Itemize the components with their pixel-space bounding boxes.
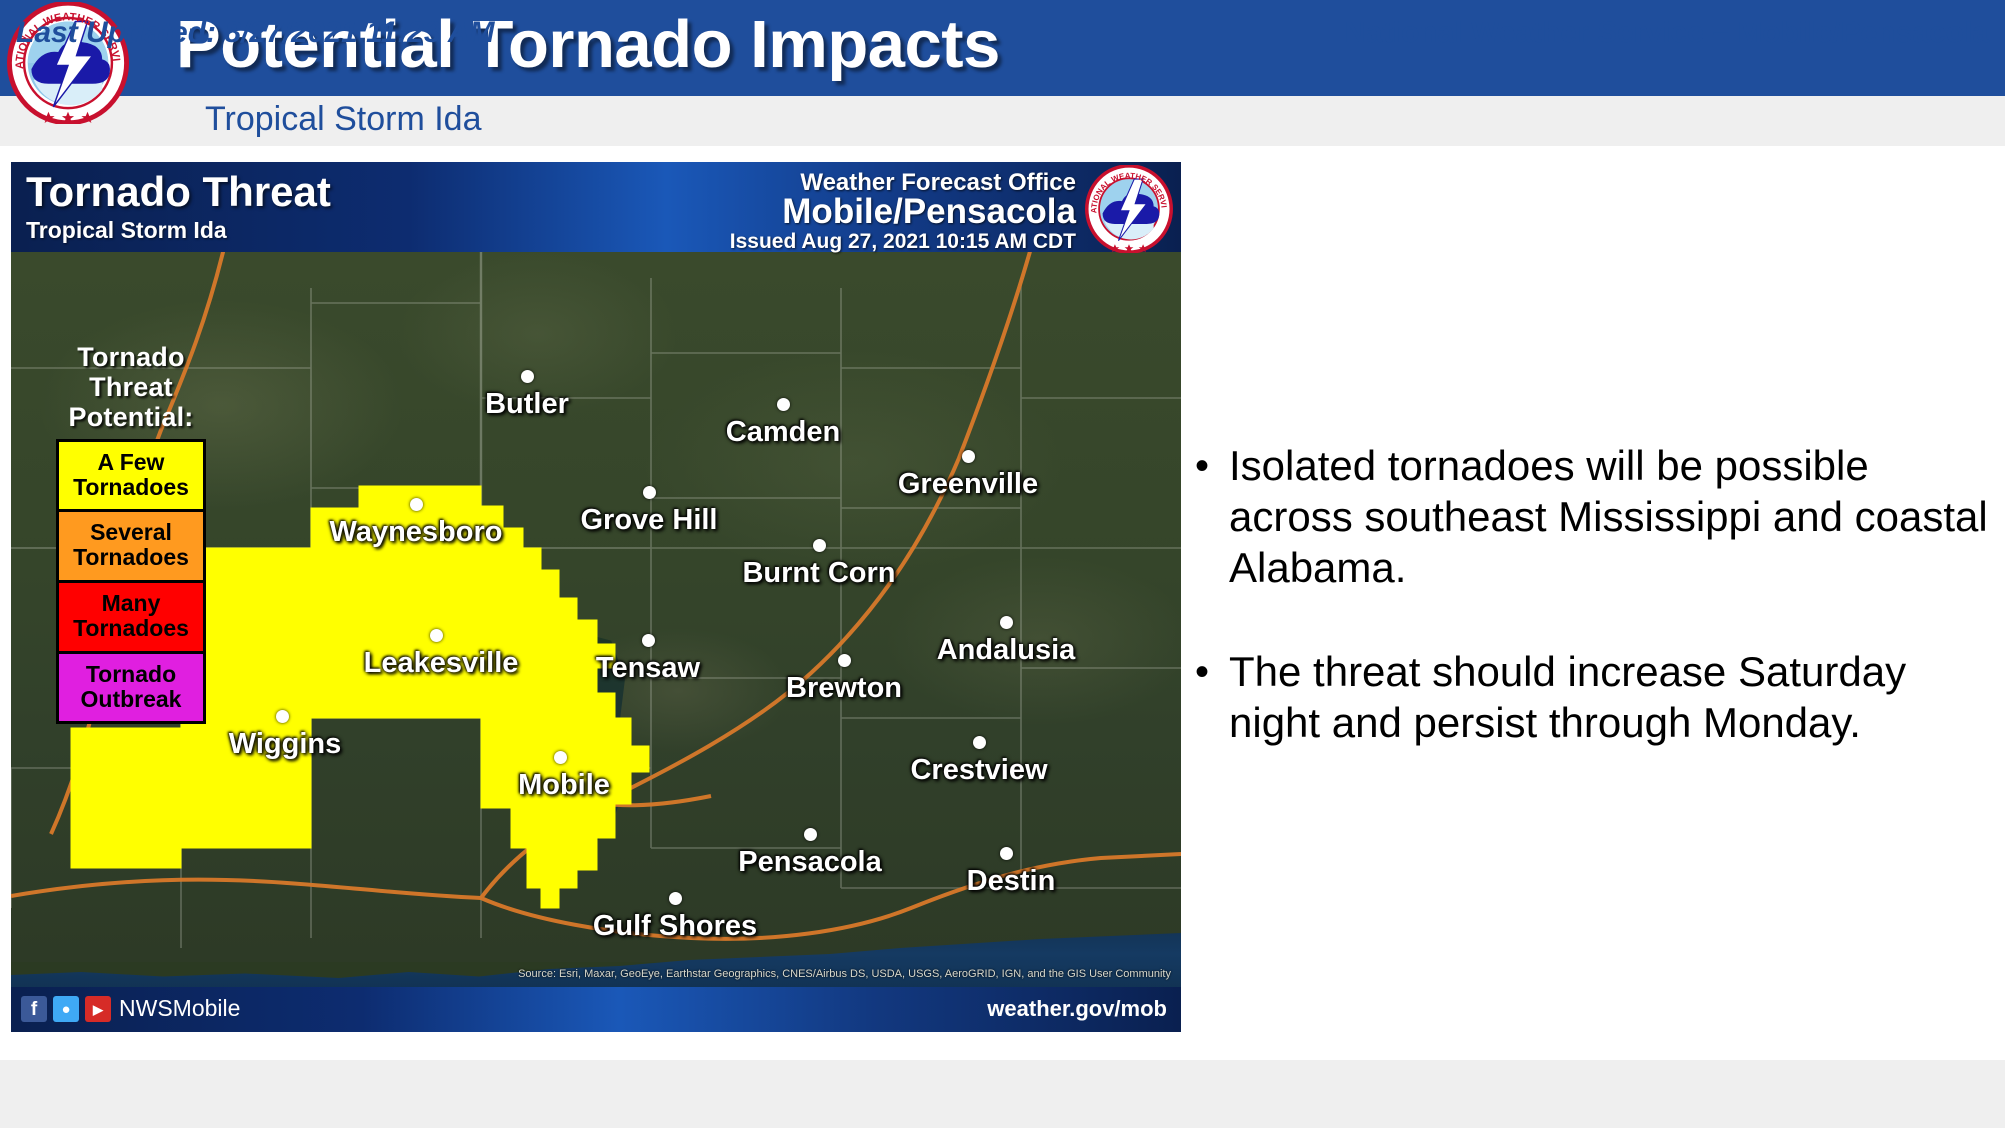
map-url[interactable]: weather.gov/mob bbox=[987, 996, 1167, 1022]
city-label: Andalusia bbox=[937, 634, 1076, 667]
city-label: Waynesboro bbox=[330, 516, 503, 549]
map-banner-title: Tornado Threat bbox=[26, 168, 331, 216]
legend-label: Outbreak bbox=[61, 687, 201, 712]
social-handle: NWSMobile bbox=[119, 995, 240, 1022]
footer-bar bbox=[0, 1060, 2005, 1128]
city-marker-dot bbox=[1000, 847, 1013, 860]
legend-title-line-1: Tornado bbox=[56, 342, 206, 372]
city-label: Mobile bbox=[518, 769, 610, 802]
city-marker-dot bbox=[962, 450, 975, 463]
facebook-glyph: f bbox=[21, 996, 47, 1022]
legend-item-many-tornadoes: Many Tornadoes bbox=[56, 580, 206, 651]
bullet-text: Isolated tornadoes will be possible acro… bbox=[1229, 440, 1990, 594]
last-updated-text: Last Updated: 8/27/2021 11:23 AM bbox=[16, 16, 495, 50]
map-attribution: Source: Esri, Maxar, GeoEye, Earthstar G… bbox=[518, 968, 1171, 980]
bullet-marker: • bbox=[1195, 646, 1229, 748]
city-label: Tensaw bbox=[596, 652, 700, 685]
city-marker-dot bbox=[1000, 616, 1013, 629]
city-marker-dot bbox=[430, 629, 443, 642]
city-label: Burnt Corn bbox=[742, 557, 895, 590]
legend-label: Many bbox=[61, 591, 201, 616]
legend-item-tornado-outbreak: Tornado Outbreak bbox=[56, 651, 206, 725]
city-label: Camden bbox=[726, 416, 840, 449]
city-label: Wiggins bbox=[229, 728, 342, 761]
city-marker-dot bbox=[410, 498, 423, 511]
legend-label: A Few bbox=[61, 450, 201, 475]
legend-title: Tornado Threat Potential: bbox=[56, 342, 206, 433]
bullet-text: The threat should increase Saturday nigh… bbox=[1229, 646, 1990, 748]
map-banner-subtitle: Tropical Storm Ida bbox=[26, 217, 227, 244]
impact-bullet-list: • Isolated tornadoes will be possible ac… bbox=[1195, 440, 1990, 800]
city-label: Crestview bbox=[910, 754, 1047, 787]
legend-label: Tornadoes bbox=[61, 545, 201, 570]
list-item: • The threat should increase Saturday ni… bbox=[1195, 646, 1990, 748]
list-item: • Isolated tornadoes will be possible ac… bbox=[1195, 440, 1990, 594]
city-label: Pensacola bbox=[738, 846, 881, 879]
city-marker-dot bbox=[813, 539, 826, 552]
legend-title-line-3: Potential: bbox=[56, 402, 206, 432]
city-marker-dot bbox=[642, 634, 655, 647]
legend-title-line-2: Threat bbox=[56, 372, 206, 402]
city-label: Destin bbox=[967, 865, 1056, 898]
legend-label: Tornado bbox=[61, 662, 201, 687]
legend-label: Several bbox=[61, 520, 201, 545]
city-marker-dot bbox=[777, 398, 790, 411]
city-marker-dot bbox=[521, 370, 534, 383]
youtube-glyph: ▶ bbox=[85, 996, 111, 1022]
bullet-marker: • bbox=[1195, 440, 1229, 594]
city-marker-dot bbox=[554, 751, 567, 764]
youtube-icon[interactable]: ▶ bbox=[85, 996, 111, 1022]
legend-label: Tornadoes bbox=[61, 616, 201, 641]
city-marker-dot bbox=[804, 828, 817, 841]
threat-legend: Tornado Threat Potential: A Few Tornadoe… bbox=[56, 342, 206, 724]
legend-label: Tornadoes bbox=[61, 475, 201, 500]
city-marker-dot bbox=[643, 486, 656, 499]
city-label: Grove Hill bbox=[581, 504, 718, 537]
office-name-text: National Weather Service – Mobile/Pensac… bbox=[1344, 16, 1989, 50]
city-marker-dot bbox=[838, 654, 851, 667]
twitter-glyph: ● bbox=[53, 996, 79, 1022]
legend-item-several-tornadoes: Several Tornadoes bbox=[56, 509, 206, 580]
legend-item-a-few-tornadoes: A Few Tornadoes bbox=[56, 439, 206, 510]
city-label: Greenville bbox=[898, 468, 1038, 501]
facebook-icon[interactable]: f bbox=[21, 996, 47, 1022]
issued-timestamp: Issued Aug 27, 2021 10:15 AM CDT bbox=[730, 230, 1076, 254]
tornado-threat-map[interactable]: Tornado Threat Tropical Storm Ida Weathe… bbox=[11, 162, 1181, 1032]
city-marker-dot bbox=[973, 736, 986, 749]
city-marker-dot bbox=[276, 710, 289, 723]
page-subtitle: Tropical Storm Ida bbox=[205, 100, 482, 139]
city-label: Butler bbox=[485, 388, 569, 421]
city-label: Gulf Shores bbox=[593, 910, 757, 943]
city-label: Brewton bbox=[786, 672, 902, 705]
city-label: Leakesville bbox=[364, 647, 519, 680]
twitter-icon[interactable]: ● bbox=[53, 996, 79, 1022]
nws-logo-icon: NATIONAL WEATHER SERVICE bbox=[1085, 165, 1173, 253]
wfo-name: Mobile/Pensacola bbox=[782, 192, 1076, 232]
city-marker-dot bbox=[669, 892, 682, 905]
